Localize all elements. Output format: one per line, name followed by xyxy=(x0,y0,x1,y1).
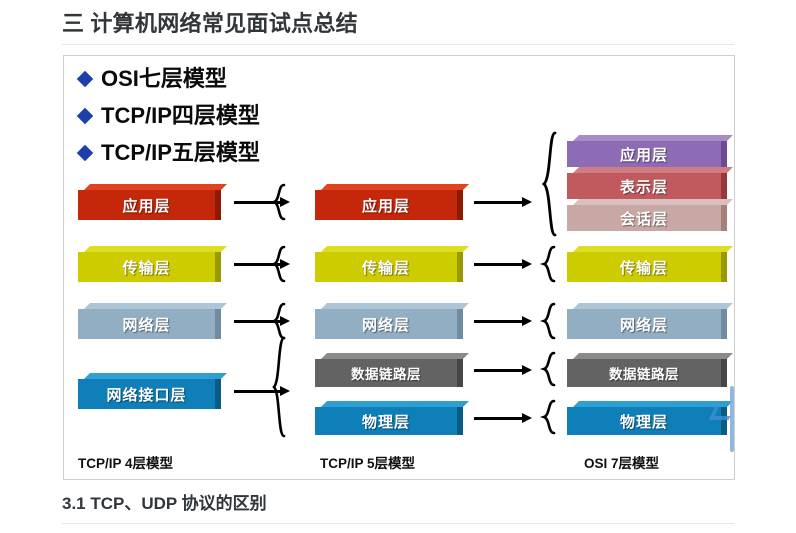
list-item: TCP/IP四层模型 xyxy=(76,97,260,134)
divider-top xyxy=(62,44,734,45)
box-front-face: 应用层 xyxy=(315,190,457,220)
layer-label: 应用层 xyxy=(122,195,170,216)
column-caption-tcpip4: TCP/IP 4层模型 xyxy=(78,452,173,472)
mapping-arrow-7 xyxy=(474,316,532,327)
layer-box-tcpip5-2: 网络层 xyxy=(315,303,463,339)
layer-box-tcpip4-0: 应用层 xyxy=(78,184,221,220)
layer-box-tcpip4-1: 传输层 xyxy=(78,246,221,282)
brace-group-1 xyxy=(271,184,287,220)
box-front-face: 表示层 xyxy=(567,173,721,199)
arrow-shaft xyxy=(474,201,523,204)
box-side-face xyxy=(457,252,463,282)
arrow-head-icon xyxy=(522,259,532,269)
box-front-face: 传输层 xyxy=(78,252,215,282)
diamond-bullet-icon xyxy=(78,72,92,86)
layer-label: 应用层 xyxy=(620,144,668,165)
mapping-arrow-6 xyxy=(474,259,532,270)
layer-label: 会话层 xyxy=(620,208,668,229)
layer-label: 物理层 xyxy=(620,411,668,432)
brace-group-5 xyxy=(541,132,559,236)
decorative-line xyxy=(730,386,734,452)
mapping-arrow-9 xyxy=(474,413,532,424)
layer-box-tcpip4-3: 网络接口层 xyxy=(78,373,221,409)
diagram-panel: OSI七层模型 TCP/IP四层模型 TCP/IP五层模型 应用层 xyxy=(63,55,735,480)
brace-group-2 xyxy=(271,246,287,282)
layer-box-tcpip5-4: 物理层 xyxy=(315,401,463,435)
layer-box-osi7-1: 表示层 xyxy=(567,167,727,199)
box-front-face: 网络层 xyxy=(567,309,721,339)
box-side-face xyxy=(457,190,463,220)
box-front-face: 传输层 xyxy=(567,252,721,282)
section-title: 3.1 TCP、UDP 协议的区别 xyxy=(62,489,267,514)
box-front-face: 网络接口层 xyxy=(78,379,215,409)
slide-page: 三计算机网络常见面试点总结 OSI七层模型 TCP/IP四层模型 TCP/IP五… xyxy=(0,0,796,533)
brace-group-8 xyxy=(541,352,557,386)
arrow-head-icon xyxy=(522,365,532,375)
layer-box-osi7-6: 物理层 xyxy=(567,401,727,435)
box-side-face xyxy=(215,309,221,339)
layer-box-tcpip5-1: 传输层 xyxy=(315,246,463,282)
box-side-face xyxy=(457,407,463,435)
box-side-face xyxy=(215,379,221,409)
box-front-face: 数据链路层 xyxy=(315,359,457,387)
bullet-list: OSI七层模型 TCP/IP四层模型 TCP/IP五层模型 xyxy=(76,60,260,171)
box-front-face: 物理层 xyxy=(567,407,721,435)
box-side-face xyxy=(215,190,221,220)
layer-box-tcpip5-0: 应用层 xyxy=(315,184,463,220)
layer-box-osi7-0: 应用层 xyxy=(567,135,727,167)
layer-label: 数据链路层 xyxy=(609,363,679,383)
column-caption-osi7: OSI 7层模型 xyxy=(584,452,659,472)
mapping-arrow-8 xyxy=(474,365,532,376)
box-front-face: 会话层 xyxy=(567,205,721,231)
diagram-canvas: OSI七层模型 TCP/IP四层模型 TCP/IP五层模型 应用层 xyxy=(64,56,734,479)
column-caption-tcpip5: TCP/IP 5层模型 xyxy=(320,452,415,472)
brace-group-7 xyxy=(541,303,557,339)
layer-label: 网络层 xyxy=(620,314,668,335)
brace-group-4 xyxy=(271,337,287,437)
arrow-head-icon xyxy=(522,413,532,423)
arrow-shaft xyxy=(474,417,523,420)
box-side-face xyxy=(721,252,727,282)
page-title-text: 计算机网络常见面试点总结 xyxy=(90,11,358,36)
arrow-shaft xyxy=(474,320,523,323)
box-front-face: 网络层 xyxy=(315,309,457,339)
box-front-face: 传输层 xyxy=(315,252,457,282)
bullet-label: TCP/IP四层模型 xyxy=(101,105,260,127)
layer-box-osi7-4: 网络层 xyxy=(567,303,727,339)
page-title-number: 三 xyxy=(62,11,84,36)
box-side-face xyxy=(457,309,463,339)
brace-group-3 xyxy=(271,303,287,339)
box-side-face xyxy=(457,359,463,387)
box-side-face xyxy=(721,205,727,231)
page-title: 三计算机网络常见面试点总结 xyxy=(62,6,358,38)
box-front-face: 应用层 xyxy=(567,141,721,167)
arrow-head-icon xyxy=(522,316,532,326)
brace-group-9 xyxy=(541,400,557,434)
box-side-face xyxy=(721,359,727,387)
diamond-bullet-icon xyxy=(78,146,92,160)
list-item: TCP/IP五层模型 xyxy=(76,134,260,171)
box-side-face xyxy=(721,309,727,339)
brace-group-6 xyxy=(541,246,557,282)
diamond-bullet-icon xyxy=(78,109,92,123)
layer-label: 应用层 xyxy=(362,195,410,216)
layer-box-osi7-5: 数据链路层 xyxy=(567,353,727,387)
divider-bottom xyxy=(62,523,734,524)
box-side-face xyxy=(215,252,221,282)
box-side-face xyxy=(721,173,727,199)
layer-box-osi7-3: 传输层 xyxy=(567,246,727,282)
box-side-face xyxy=(721,141,727,167)
arrow-head-icon xyxy=(522,197,532,207)
list-item: OSI七层模型 xyxy=(76,60,260,97)
arrow-shaft xyxy=(474,263,523,266)
layer-box-osi7-2: 会话层 xyxy=(567,199,727,231)
layer-label: 传输层 xyxy=(122,257,170,278)
bullet-label: TCP/IP五层模型 xyxy=(101,142,260,164)
layer-label: 网络层 xyxy=(122,314,170,335)
arrow-shaft xyxy=(474,369,523,372)
mapping-arrow-5 xyxy=(474,197,532,208)
layer-label: 传输层 xyxy=(362,257,410,278)
box-front-face: 数据链路层 xyxy=(567,359,721,387)
box-front-face: 应用层 xyxy=(78,190,215,220)
layer-label: 表示层 xyxy=(620,176,668,197)
layer-label: 物理层 xyxy=(362,411,410,432)
box-front-face: 物理层 xyxy=(315,407,457,435)
layer-label: 传输层 xyxy=(620,257,668,278)
layer-label: 数据链路层 xyxy=(351,363,421,383)
layer-label: 网络接口层 xyxy=(106,384,186,405)
bullet-label: OSI七层模型 xyxy=(101,68,227,90)
box-front-face: 网络层 xyxy=(78,309,215,339)
layer-box-tcpip4-2: 网络层 xyxy=(78,303,221,339)
layer-label: 网络层 xyxy=(362,314,410,335)
layer-box-tcpip5-3: 数据链路层 xyxy=(315,353,463,387)
